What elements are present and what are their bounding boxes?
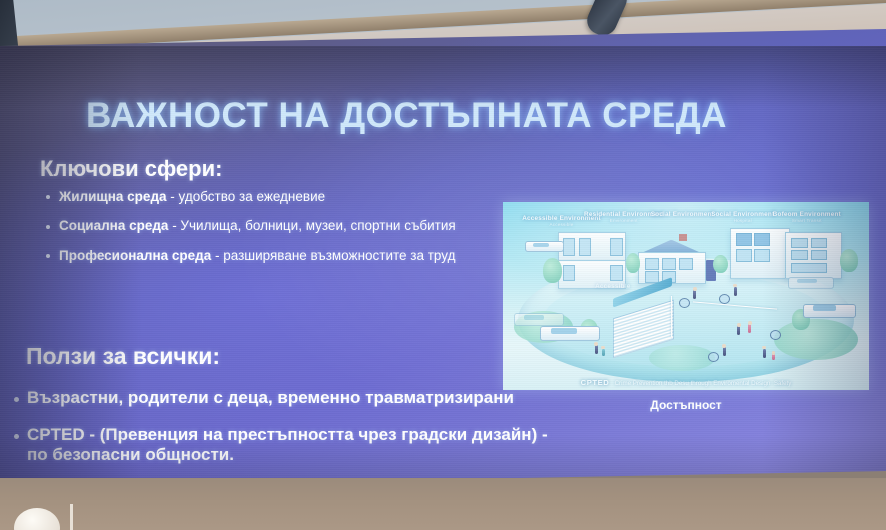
vehicle [514,313,564,326]
handrail [671,296,672,337]
window [791,250,807,260]
window [754,249,770,262]
page-title: ВАЖНОСТ НА ДОСТЪПНАТА СРЕДА [86,96,727,136]
illustration-inner-label: Accessible [576,283,649,290]
chimney [679,234,687,242]
list-item: Възрастни, родители с деца, временно тра… [12,388,552,408]
illustration-caption: Достъпност [503,398,869,412]
vehicle [788,277,834,288]
pedestrian [763,349,766,358]
pedestrian [602,349,605,356]
bullet-lead: Социална среда [59,218,168,233]
window [563,238,576,256]
window [679,258,693,270]
bullet-rest: - разширяване възможностите за труд [211,248,455,263]
window [579,238,592,256]
list-item: Социална среда - Училища, болници, музеи… [44,217,474,234]
illustration-label-sub: Environment [584,218,665,223]
building-house [638,252,706,284]
window [791,238,807,248]
window [610,265,623,281]
window [811,238,827,248]
pedestrian [748,324,751,333]
window [662,258,676,270]
projector-photo: ВАЖНОСТ НА ДОСТЪПНАТА СРЕДА Ключови сфер… [0,0,886,530]
window [811,250,827,260]
wheelchair-icon [679,298,690,308]
list-item: Професионална среда - разширяване възмож… [44,247,474,264]
illustration-canvas: Accessible Environment Accessible Reside… [503,202,869,390]
pedestrian [595,345,598,354]
green-patch [774,319,858,360]
tree [543,258,561,282]
window [736,233,752,246]
vehicle [525,241,564,251]
list-item: CPTED - (Превенция на престъпността чрез… [12,425,552,465]
bullet-list-key-areas: Жилищна среда - удобство за ежедневие Со… [44,188,474,276]
illustration-label-sub: Smart Transit [763,218,851,223]
projected-slide: ВАЖНОСТ НА ДОСТЪПНАТА СРЕДА Ключови сфер… [0,29,886,488]
pedestrian [772,354,775,360]
bullet-list-benefits: Възрастни, родители с деца, временно тра… [12,388,552,482]
building-hospital [730,228,791,279]
pedestrian [693,290,696,299]
window [563,265,576,281]
section-heading-key-areas: Ключови сфери: [40,156,222,182]
bullet-rest: - удобство за ежедневие [167,189,326,204]
window [754,233,770,246]
tree [713,255,728,274]
window [645,271,659,283]
bullet-rest: Възрастни, родители с деца, временно тра… [27,388,514,407]
pedestrian [734,287,737,296]
accessibility-illustration: Accessible Environment Accessible Reside… [503,202,869,390]
cpted-tail: Safety [774,380,792,387]
window [791,263,827,273]
bullet-rest: - Училища, болници, музеи, спортни събит… [168,218,455,233]
illustration-footer: CPTED Crime Prevention thb Desu through … [503,378,869,387]
tree [840,249,858,272]
bullet-lead: Професионална среда [59,248,211,263]
section-heading-benefits: Ползи за всички: [26,343,220,370]
floor-pole [70,504,73,530]
wheelchair-icon [770,330,781,340]
bullet-lead: Жилищна среда [59,189,167,204]
tree [626,253,641,274]
pedestrian [737,326,740,335]
window [610,238,623,256]
building-residential-upper [558,232,626,262]
window [736,249,752,262]
cpted-acronym: CPTED [581,378,610,387]
vehicle-van [803,304,856,318]
room-wall-bottom [0,478,886,530]
cpted-expansion: Crime Prevention thb Desu through Enviro… [615,380,771,387]
bullet-rest: CPTED - (Превенция на престъпността чрез… [27,425,548,464]
illustration-label: Bofeom Environment Smart Transit [763,211,851,223]
pedestrian [723,347,726,356]
wheelchair-icon [719,294,730,304]
window [645,258,659,270]
vehicle-van [540,326,601,341]
building-office [785,232,842,279]
list-item: Жилищна среда - удобство за ежедневие [44,188,474,205]
